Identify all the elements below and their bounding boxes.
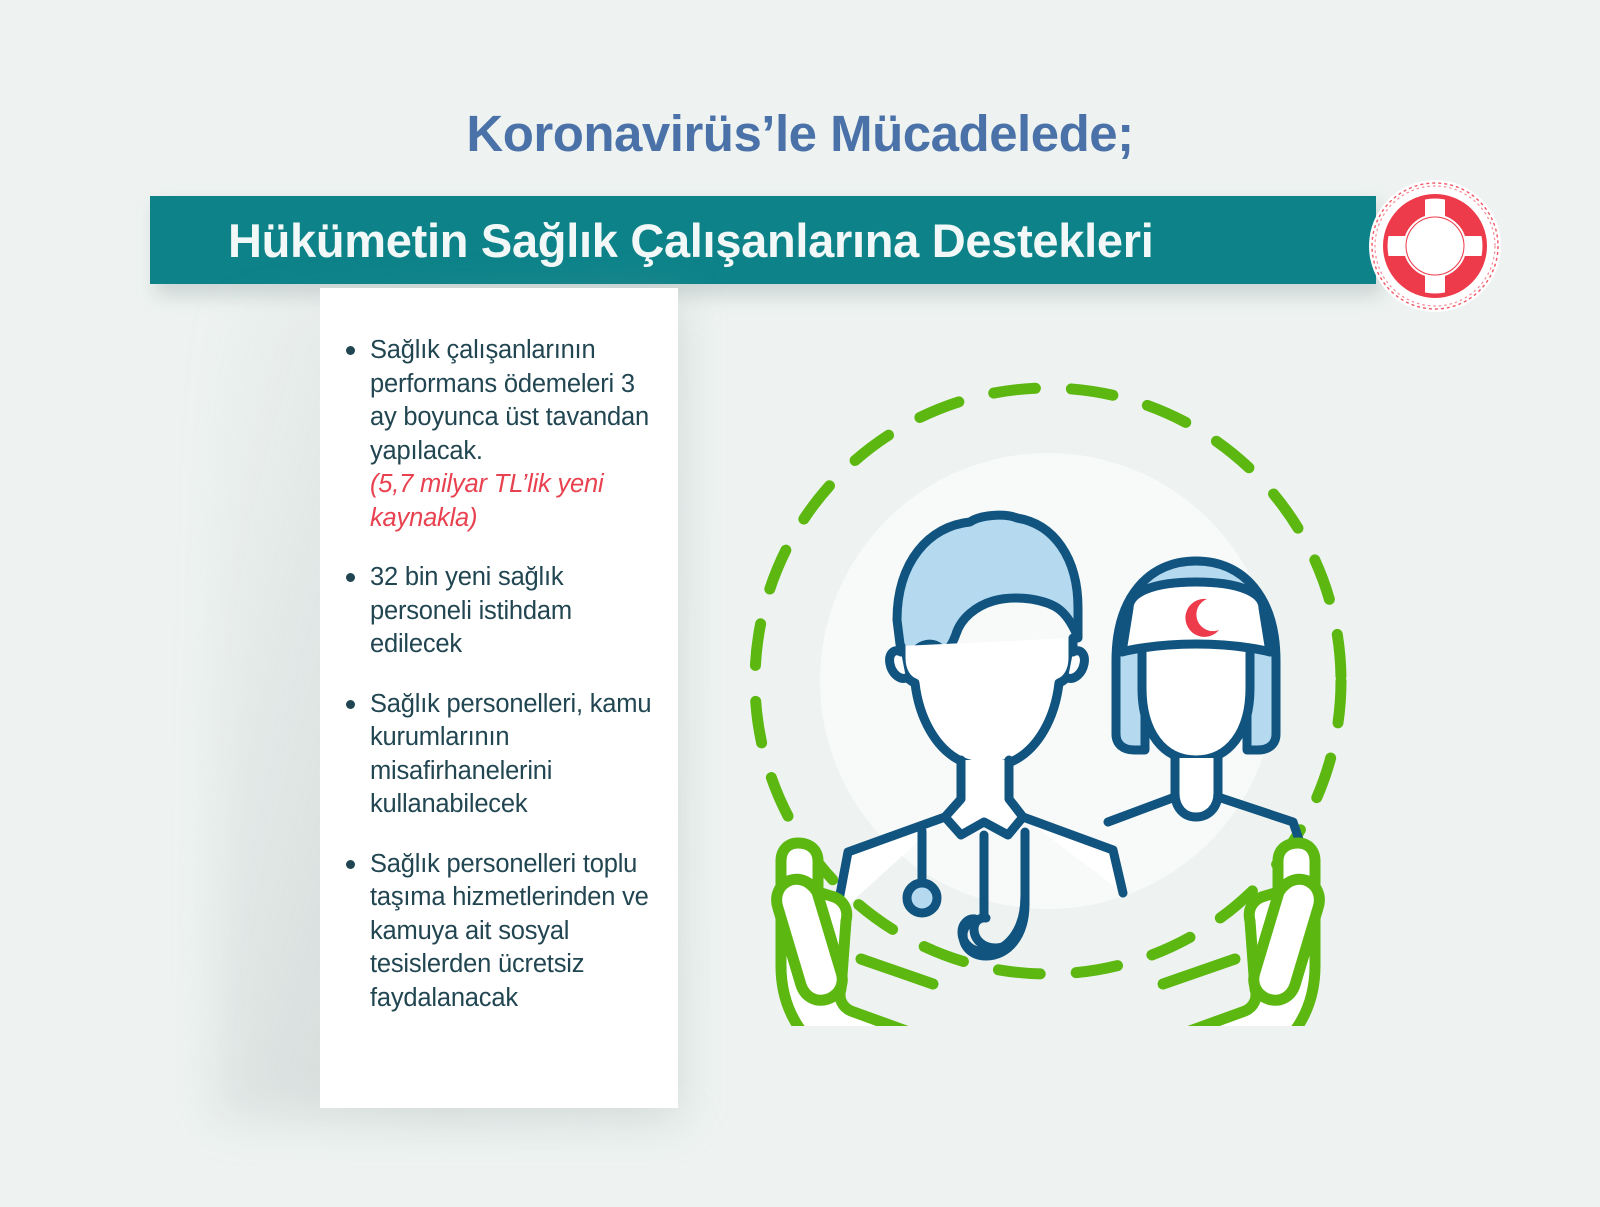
list-item: Sağlık personelleri, kamu kurumlarının m… <box>344 688 656 822</box>
bullet-dot-icon <box>346 860 355 869</box>
bullet-dot-icon <box>346 573 355 582</box>
list-card: Sağlık çalışanlarının performans ödemele… <box>320 288 678 1108</box>
bullet-list: Sağlık çalışanlarının performans ödemele… <box>344 334 656 1015</box>
banner-title: Hükümetin Sağlık Çalışanlarına Destekler… <box>228 213 1153 268</box>
infographic-stage: Koronavirüs’le Mücadelede; Hükümetin Sağ… <box>0 0 1600 1207</box>
banner: Hükümetin Sağlık Çalışanlarına Destekler… <box>150 196 1376 288</box>
list-item-text: Sağlık çalışanlarının performans ödemele… <box>370 336 649 465</box>
list-item-text: Sağlık personelleri, kamu kurumlarının m… <box>370 690 651 819</box>
list-item: Sağlık çalışanlarının performans ödemele… <box>344 334 656 535</box>
bullet-dot-icon <box>346 700 355 709</box>
list-item-note: (5,7 milyar TL’lik yeni kaynakla) <box>370 468 656 535</box>
bullet-dot-icon <box>346 346 355 355</box>
list-item-text: Sağlık personelleri toplu taşıma hizmetl… <box>370 850 649 1012</box>
list-item: Sağlık personelleri toplu taşıma hizmetl… <box>344 848 656 1016</box>
list-item: 32 bin yeni sağlık personeli istihdam ed… <box>344 561 656 662</box>
list-item-text: 32 bin yeni sağlık personeli istihdam ed… <box>370 563 572 658</box>
hands-holding-doctor-and-nurse-illustration <box>718 356 1378 1026</box>
life-ring-icon <box>1367 178 1503 314</box>
page-title: Koronavirüs’le Mücadelede; <box>0 104 1600 163</box>
banner-bar: Hükümetin Sağlık Çalışanlarına Destekler… <box>150 196 1376 284</box>
